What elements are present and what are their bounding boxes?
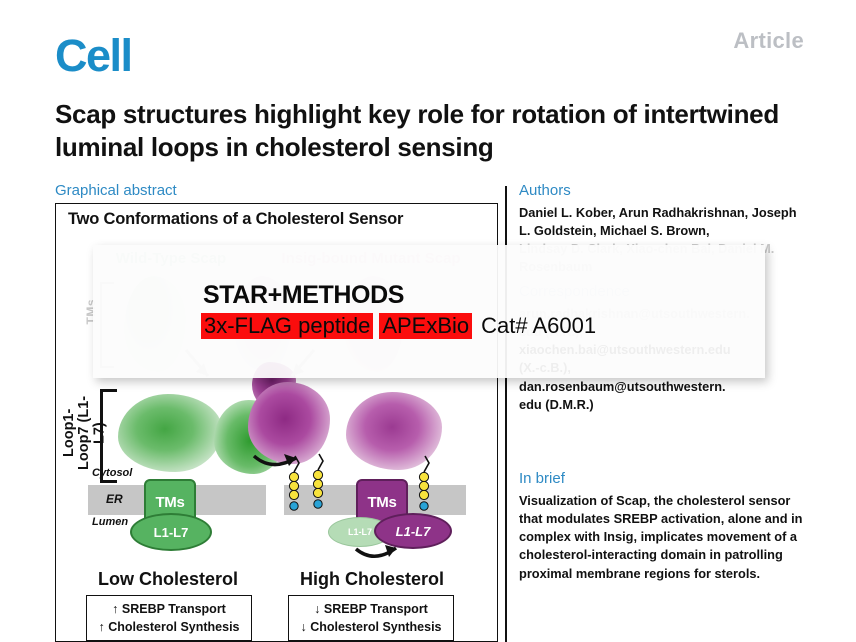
authors-list: Daniel L. Kober, Arun Radhakrishnan, Jos… — [519, 204, 809, 240]
correspondence-email-3-cont: edu (D.M.R.) — [519, 396, 809, 414]
condition-box-high: ↓ SREBP Transport ↓ Cholesterol Synthesi… — [288, 595, 454, 641]
protein-loop-domain-wildtype — [118, 394, 222, 472]
condition-box-low: ↑ SREBP Transport ↑ Cholesterol Synthesi… — [86, 595, 252, 641]
condition-low-line-1: ↑ SREBP Transport — [87, 600, 251, 618]
correspondence-email-3[interactable]: dan.rosenbaum@utsouthwestern. — [519, 378, 809, 396]
in-brief-section: In brief Visualization of Scap, the chol… — [519, 470, 811, 583]
loops-bracket-label: Loop1-Loop7 (L1-L7) — [62, 390, 108, 476]
cytosol-label: Cytosol — [92, 467, 132, 479]
article-type-tag: Article — [733, 28, 804, 54]
protein-loop-domain-mutant — [346, 392, 442, 470]
figure-title: Two Conformations of a Cholesterol Senso… — [68, 210, 403, 229]
loop-oval-high-cholesterol: L1-L7 — [374, 513, 452, 549]
graphical-abstract-label: Graphical abstract — [55, 182, 177, 199]
overlay-reagent-name: 3x-FLAG peptide — [201, 313, 373, 339]
condition-title-low: Low Cholesterol — [78, 569, 258, 590]
cell-journal-logo: Cell — [55, 33, 132, 78]
authors-heading: Authors — [519, 182, 809, 199]
condition-high-line-1: ↓ SREBP Transport — [289, 600, 453, 618]
er-label: ER — [106, 492, 123, 506]
protein-loop-domain-purple-overlay — [248, 382, 330, 464]
in-brief-text: Visualization of Scap, the cholesterol s… — [519, 492, 811, 583]
page-root: Article Cell Scap structures highlight k… — [0, 0, 856, 642]
overlay-reagent-row: 3x-FLAG peptide APExBio Cat# A6001 — [201, 313, 599, 339]
in-brief-heading: In brief — [519, 470, 811, 487]
lumen-label: Lumen — [92, 516, 128, 528]
overlay-reagent-source: APExBio — [379, 313, 472, 339]
condition-low-line-2: ↑ Cholesterol Synthesis — [87, 618, 251, 636]
overlay-title: STAR+METHODS — [203, 281, 404, 310]
condition-high-line-2: ↓ Cholesterol Synthesis — [289, 618, 453, 636]
condition-title-high: High Cholesterol — [282, 569, 462, 590]
overlay-reagent-catalog: Cat# A6001 — [478, 313, 599, 339]
loop-oval-low-cholesterol: L1-L7 — [130, 513, 212, 551]
star-methods-overlay-popup[interactable]: STAR+METHODS 3x-FLAG peptide APExBio Cat… — [93, 245, 765, 378]
page-title: Scap structures highlight key role for r… — [55, 98, 795, 165]
